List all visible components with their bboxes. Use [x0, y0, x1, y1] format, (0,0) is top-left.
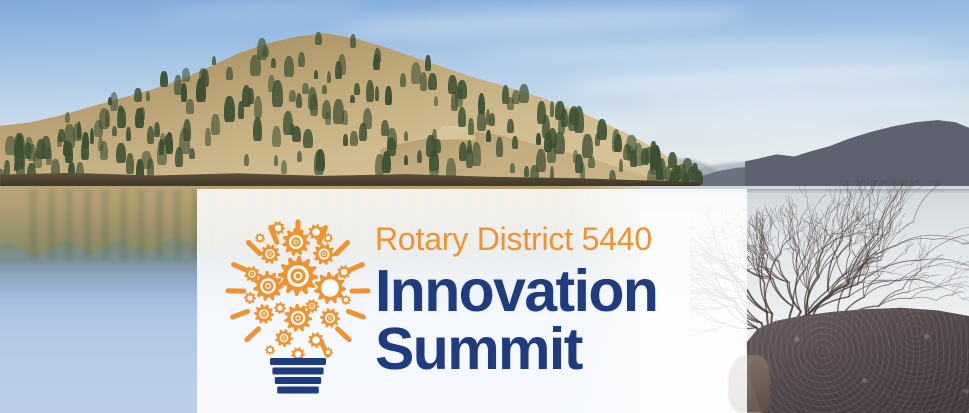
pine-tree — [244, 154, 249, 166]
pine-tree — [262, 46, 269, 58]
pine-tree — [65, 112, 70, 123]
pine-tree — [224, 96, 235, 121]
pine-tree — [254, 96, 262, 118]
pine-tree — [425, 55, 431, 72]
pine-tree — [434, 96, 439, 106]
pine-tree — [404, 131, 409, 140]
pine-tree — [166, 132, 174, 154]
pine-tree — [253, 117, 262, 141]
pine-tree — [434, 139, 441, 153]
pine-tree — [226, 67, 233, 80]
pine-tree — [65, 142, 73, 163]
pine-tree — [350, 131, 358, 146]
pine-tree — [507, 119, 514, 134]
pine-tree — [186, 99, 194, 114]
pine-tree — [290, 124, 295, 135]
pine-tree — [519, 84, 529, 103]
pine-tree — [281, 160, 288, 174]
pine-tree — [580, 162, 585, 180]
pine-tree — [420, 72, 427, 91]
pine-tree — [81, 140, 89, 160]
pine-tree — [248, 88, 254, 104]
pine-tree — [428, 73, 437, 90]
pine-tree — [108, 97, 112, 105]
pine-tree — [126, 127, 131, 141]
pine-tree — [116, 143, 125, 163]
pine-tree — [363, 108, 373, 129]
pine-tree — [381, 120, 389, 136]
pine-tree — [656, 159, 663, 180]
pine-tree — [468, 118, 474, 136]
pine-tree — [310, 94, 318, 115]
pine-tree — [582, 134, 593, 159]
pine-tree — [385, 86, 392, 105]
pine-tree — [496, 137, 503, 157]
pine-tree — [400, 73, 406, 87]
pine-tree — [472, 142, 481, 166]
event-hero-banner: Rotary District 5440 Innovation Summit — [0, 0, 969, 413]
pine-tree — [298, 52, 305, 68]
pine-tree — [182, 68, 190, 83]
pine-tree — [455, 86, 463, 106]
pine-tree — [140, 107, 145, 120]
pine-tree — [147, 158, 154, 177]
pine-tree — [315, 32, 322, 45]
pine-tree — [322, 100, 331, 120]
pine-tree — [550, 101, 554, 117]
pine-tree — [536, 149, 545, 172]
pine-tree — [296, 93, 302, 109]
pine-tree — [524, 166, 529, 176]
pine-tree — [272, 80, 283, 107]
pine-tree — [510, 163, 515, 173]
pine-tree — [619, 159, 623, 173]
pine-tree — [134, 88, 142, 102]
title-line-1: Innovation — [375, 262, 735, 320]
pine-tree — [387, 137, 397, 156]
pine-tree — [374, 48, 381, 64]
title-line-2: Summit — [375, 320, 735, 378]
pine-tree — [561, 109, 568, 127]
pine-tree — [350, 95, 354, 104]
pine-tree — [289, 90, 296, 102]
pine-tree — [212, 56, 217, 65]
pine-tree — [284, 56, 294, 77]
pine-tree — [15, 147, 25, 169]
pine-tree — [597, 119, 607, 140]
pine-tree — [105, 110, 110, 127]
pine-tree — [189, 148, 195, 160]
pine-tree — [274, 155, 278, 166]
pine-tree — [411, 62, 421, 84]
pine-tree — [478, 93, 485, 114]
pine-tree — [343, 134, 348, 146]
pine-tree — [486, 130, 491, 142]
pine-tree — [272, 126, 281, 147]
pine-tree — [126, 153, 134, 174]
lightbulb-gears-icon — [224, 214, 372, 396]
pine-tree — [375, 154, 383, 177]
pine-tree — [458, 107, 466, 127]
pine-tree — [554, 132, 565, 154]
pine-tree — [297, 151, 302, 162]
pine-tree — [181, 83, 187, 102]
pine-tree — [588, 156, 595, 169]
pine-tree — [118, 105, 122, 114]
pine-tree — [350, 34, 357, 49]
pine-tree — [205, 128, 210, 145]
pine-tree — [271, 58, 276, 68]
pine-tree — [614, 134, 622, 153]
bulb-base — [270, 358, 326, 396]
pine-tree — [322, 85, 327, 94]
pine-tree — [536, 133, 541, 145]
pine-tree — [314, 70, 318, 79]
heading-block: Rotary District 5440 Innovation Summit — [375, 222, 735, 378]
pine-tree — [211, 114, 219, 136]
pine-tree — [512, 136, 518, 149]
district-line: Rotary District 5440 — [375, 222, 735, 256]
